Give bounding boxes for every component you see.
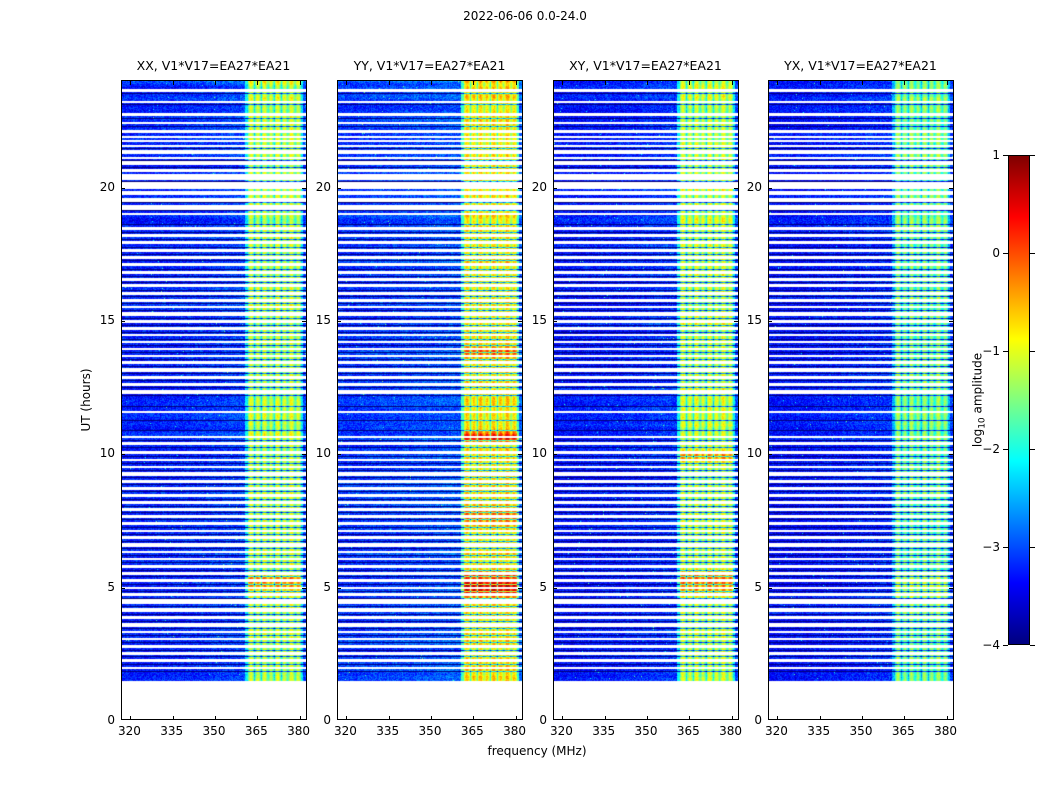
x-tick xyxy=(257,81,258,85)
y-tick-label: 0 xyxy=(521,713,547,727)
y-tick-label: 0 xyxy=(89,713,115,727)
y-tick xyxy=(553,588,557,589)
x-tick xyxy=(605,81,606,85)
y-tick xyxy=(553,321,557,322)
colorbar-tick xyxy=(1030,351,1035,352)
x-tick xyxy=(904,716,905,720)
x-tick xyxy=(173,81,174,85)
waterfall-image xyxy=(338,81,523,720)
waterfall-image xyxy=(122,81,307,720)
y-axis-label: UT (hours) xyxy=(79,368,93,431)
colorbar-tick xyxy=(1003,449,1008,450)
colorbar-tick xyxy=(1003,547,1008,548)
x-tick xyxy=(904,81,905,85)
x-tick xyxy=(777,81,778,85)
colorbar-tick xyxy=(1003,155,1008,156)
x-tick-label: 365 xyxy=(892,724,915,738)
axes-frame xyxy=(337,80,523,720)
colorbar-label-text: log10 amplitude xyxy=(970,353,984,447)
colorbar-tick xyxy=(1003,645,1008,646)
x-tick xyxy=(947,81,948,85)
x-tick xyxy=(777,716,778,720)
x-tick-label: 350 xyxy=(635,724,658,738)
x-tick xyxy=(473,716,474,720)
x-tick xyxy=(732,716,733,720)
colorbar-tick xyxy=(1030,645,1035,646)
x-tick-label: 335 xyxy=(807,724,830,738)
x-tick xyxy=(605,716,606,720)
figure-canvas: 2022-06-06 0.0-24.0 XX, V1*V17=EA27*EA21… xyxy=(0,0,1050,800)
colorbar[interactable] xyxy=(1008,155,1030,645)
y-tick xyxy=(949,588,953,589)
x-tick-label: 365 xyxy=(677,724,700,738)
y-tick xyxy=(768,321,772,322)
y-tick-label: 20 xyxy=(305,180,331,194)
x-tick xyxy=(516,716,517,720)
x-axis-label: frequency (MHz) xyxy=(487,744,586,758)
axes-frame xyxy=(553,80,739,720)
x-tick-label: 380 xyxy=(934,724,957,738)
x-tick xyxy=(215,81,216,85)
x-tick xyxy=(732,81,733,85)
subplot-title-yx: YX, V1*V17=EA27*EA21 xyxy=(728,58,993,73)
x-tick-label: 320 xyxy=(765,724,788,738)
x-tick xyxy=(173,716,174,720)
y-tick xyxy=(121,188,125,189)
waterfall-image xyxy=(554,81,739,720)
y-tick-label: 15 xyxy=(305,313,331,327)
x-tick xyxy=(947,716,948,720)
y-tick xyxy=(337,321,341,322)
figure-suptitle: 2022-06-06 0.0-24.0 xyxy=(0,9,1050,23)
colorbar-tick xyxy=(1003,253,1008,254)
x-tick xyxy=(431,716,432,720)
x-tick-label: 335 xyxy=(160,724,183,738)
y-tick-label: 15 xyxy=(736,313,762,327)
x-tick xyxy=(300,716,301,720)
y-tick-label: 5 xyxy=(736,580,762,594)
colorbar-tick xyxy=(1030,449,1035,450)
y-tick xyxy=(121,588,125,589)
y-tick xyxy=(337,454,341,455)
x-tick xyxy=(820,81,821,85)
x-tick-label: 365 xyxy=(461,724,484,738)
x-tick-label: 335 xyxy=(376,724,399,738)
y-tick xyxy=(553,188,557,189)
x-tick xyxy=(346,716,347,720)
x-tick xyxy=(562,81,563,85)
x-tick xyxy=(516,81,517,85)
waterfall-image xyxy=(769,81,954,720)
colorbar-tick-label: −3 xyxy=(968,540,1000,554)
y-tick-label: 10 xyxy=(736,446,762,460)
x-tick xyxy=(257,716,258,720)
x-tick xyxy=(820,716,821,720)
subplot-yy[interactable]: YY, V1*V17=EA27*EA2132033535036538005101… xyxy=(337,80,523,720)
x-tick xyxy=(300,81,301,85)
y-tick xyxy=(121,454,125,455)
x-tick xyxy=(647,716,648,720)
x-tick-label: 350 xyxy=(850,724,873,738)
y-tick-label: 5 xyxy=(89,580,115,594)
y-tick-label: 20 xyxy=(89,180,115,194)
y-tick-label: 0 xyxy=(305,713,331,727)
y-tick xyxy=(949,188,953,189)
x-tick-label: 320 xyxy=(118,724,141,738)
x-tick xyxy=(689,716,690,720)
y-tick-label: 20 xyxy=(736,180,762,194)
y-tick xyxy=(949,454,953,455)
y-tick-label: 10 xyxy=(305,446,331,460)
y-tick xyxy=(949,321,953,322)
axes-frame xyxy=(768,80,954,720)
y-tick-label: 10 xyxy=(89,446,115,460)
y-tick-label: 15 xyxy=(89,313,115,327)
y-tick xyxy=(553,454,557,455)
y-tick xyxy=(337,588,341,589)
colorbar-tick-label: −4 xyxy=(968,638,1000,652)
x-tick xyxy=(562,716,563,720)
x-tick-label: 320 xyxy=(550,724,573,738)
y-tick xyxy=(768,588,772,589)
x-tick-label: 320 xyxy=(334,724,357,738)
x-tick xyxy=(346,81,347,85)
colorbar-tick xyxy=(1030,547,1035,548)
x-tick xyxy=(431,81,432,85)
colorbar-tick xyxy=(1030,253,1035,254)
x-tick-label: 350 xyxy=(419,724,442,738)
y-tick-label: 0 xyxy=(736,713,762,727)
y-tick xyxy=(768,188,772,189)
y-tick-label: 10 xyxy=(521,446,547,460)
x-tick xyxy=(647,81,648,85)
colorbar-tick xyxy=(1030,155,1035,156)
x-tick xyxy=(130,716,131,720)
y-tick xyxy=(337,188,341,189)
colorbar-label: log10 amplitude xyxy=(970,353,987,447)
y-tick-label: 5 xyxy=(521,580,547,594)
x-tick xyxy=(862,716,863,720)
x-tick xyxy=(389,81,390,85)
y-tick xyxy=(768,454,772,455)
x-tick xyxy=(862,81,863,85)
y-tick-label: 20 xyxy=(521,180,547,194)
x-tick xyxy=(689,81,690,85)
y-tick-label: 5 xyxy=(305,580,331,594)
subplot-yx[interactable]: YX, V1*V17=EA27*EA2132033535036538005101… xyxy=(768,80,954,720)
x-tick xyxy=(473,81,474,85)
axes-frame xyxy=(121,80,307,720)
colorbar-tick-label: 0 xyxy=(968,246,1000,260)
colorbar-tick xyxy=(1003,351,1008,352)
colorbar-tick-label: 1 xyxy=(968,148,1000,162)
x-tick xyxy=(215,716,216,720)
subplot-xy[interactable]: XY, V1*V17=EA27*EA2132033535036538005101… xyxy=(553,80,739,720)
subplot-xx[interactable]: XX, V1*V17=EA27*EA2132033535036538005101… xyxy=(121,80,307,720)
x-tick-label: 335 xyxy=(592,724,615,738)
x-tick-label: 350 xyxy=(203,724,226,738)
y-tick xyxy=(121,321,125,322)
y-tick-label: 15 xyxy=(521,313,547,327)
x-tick xyxy=(389,716,390,720)
colorbar-gradient xyxy=(1009,156,1029,644)
x-tick-label: 365 xyxy=(245,724,268,738)
x-tick xyxy=(130,81,131,85)
